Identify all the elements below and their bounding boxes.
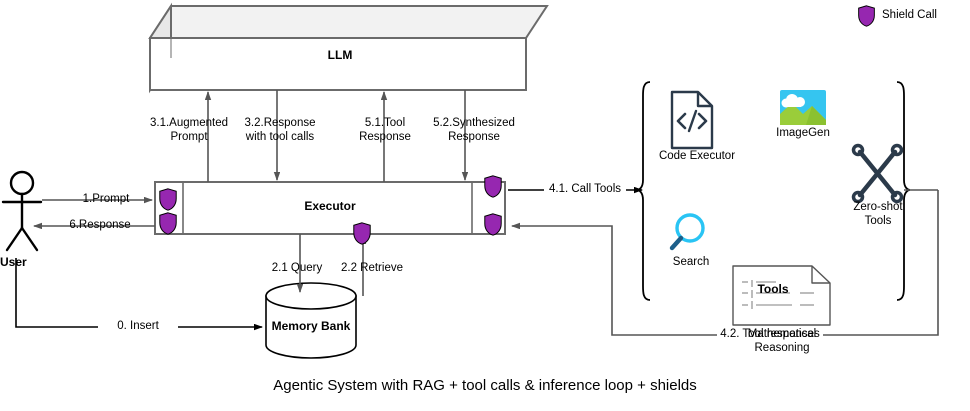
tool-label-code-executor: Code Executor (652, 150, 742, 164)
edge-label-synthesized-response: 5.2.Synthesized Response (424, 117, 524, 144)
tools-left-brace (637, 82, 650, 300)
edge-label-insert: 0. Insert (98, 320, 178, 334)
shield-icon-legend (859, 6, 875, 26)
edge-label-response-with-tool-calls: 3.2.Response with tool calls (230, 117, 330, 144)
shield-icon-exec-out-bottom (485, 214, 501, 235)
image-picture-icon (780, 90, 826, 125)
legend-shield-label: Shield Call (882, 9, 962, 23)
tool-label-mathematical-reasoning: Mathematical Reasoning (730, 328, 834, 355)
magnifier-icon (672, 215, 703, 248)
memory-bank-label: Memory Bank (266, 320, 356, 334)
diagram-caption: Agentic System with RAG + tool calls & i… (0, 377, 970, 394)
edge-label-tool-response: 5.1.Tool Response (343, 117, 427, 144)
tool-label-search: Search (660, 256, 722, 270)
crossed-wrenches-icon (854, 146, 902, 202)
edge-label-response: 6.Response (50, 219, 150, 233)
shield-icon-exec-memory (354, 223, 370, 244)
tools-group-label: Tools (735, 283, 811, 297)
shield-icon-exec-out-top (485, 176, 501, 197)
edge-label-retrieve: 2.2 Retrieve (333, 262, 411, 276)
shield-icon-exec-in-top (160, 189, 176, 210)
executor-label: Executor (290, 200, 370, 214)
diagram-canvas: LLM Executor Memory Bank User 1.Prompt 6… (0, 0, 970, 411)
llm-label: LLM (300, 49, 380, 63)
edge-label-prompt: 1.Prompt (60, 193, 152, 207)
tools-right-brace (897, 82, 910, 300)
tool-label-imagegen: ImageGen (770, 127, 836, 141)
shield-icon-exec-in-bottom (160, 213, 176, 234)
tool-label-zero-shot-tools: Zero-shot Tools (842, 201, 914, 228)
code-document-icon (672, 92, 712, 148)
edge-label-augmented-prompt: 3.1.Augmented Prompt (143, 117, 235, 144)
user-stick-figure (3, 172, 41, 250)
user-label: User (0, 256, 48, 270)
edge-label-call-tools: 4.1. Call Tools (544, 183, 626, 197)
edge-insert (16, 258, 262, 327)
edge-label-query: 2.1 Query (262, 262, 332, 276)
